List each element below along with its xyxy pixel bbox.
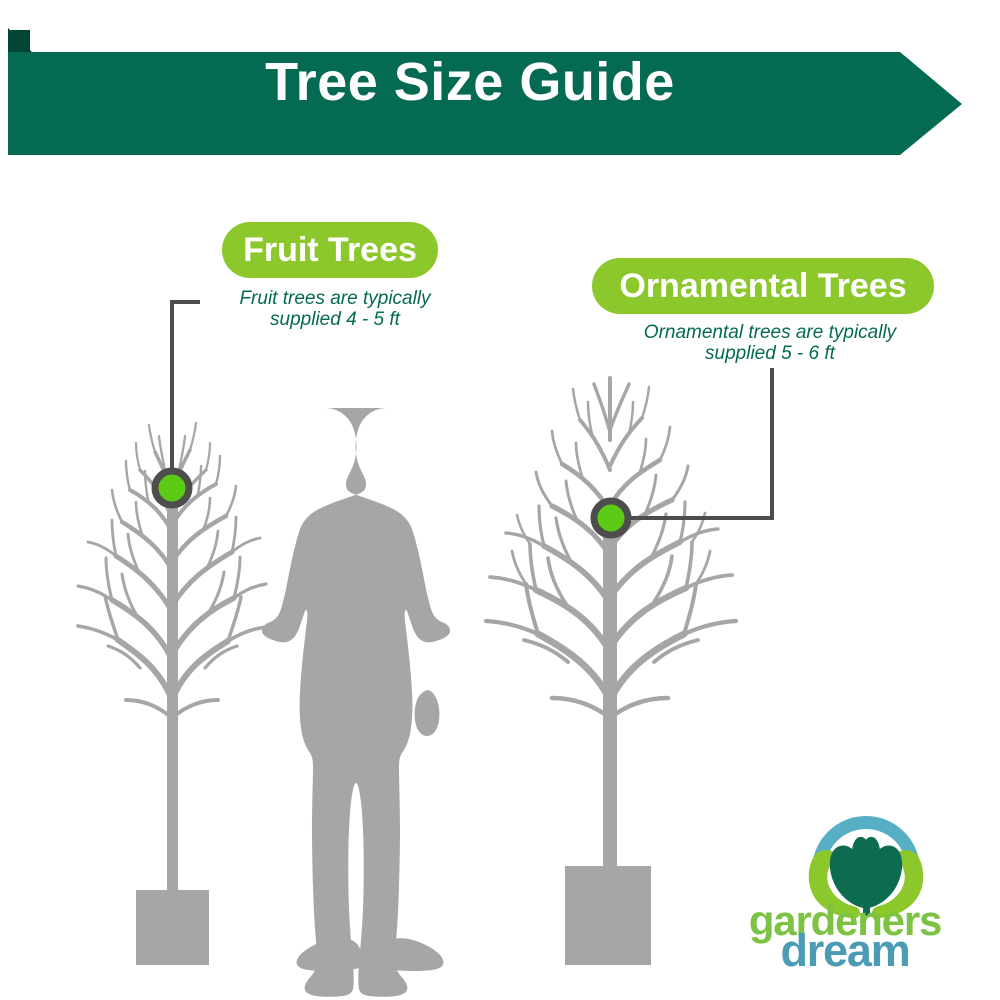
infographic-canvas: Tree Size Guide [0, 0, 1000, 1000]
logo-word-dream: dream [745, 928, 945, 973]
logo-icon[interactable] [0, 0, 1000, 1000]
logo-wordmark[interactable]: gardeners dream [745, 900, 945, 990]
